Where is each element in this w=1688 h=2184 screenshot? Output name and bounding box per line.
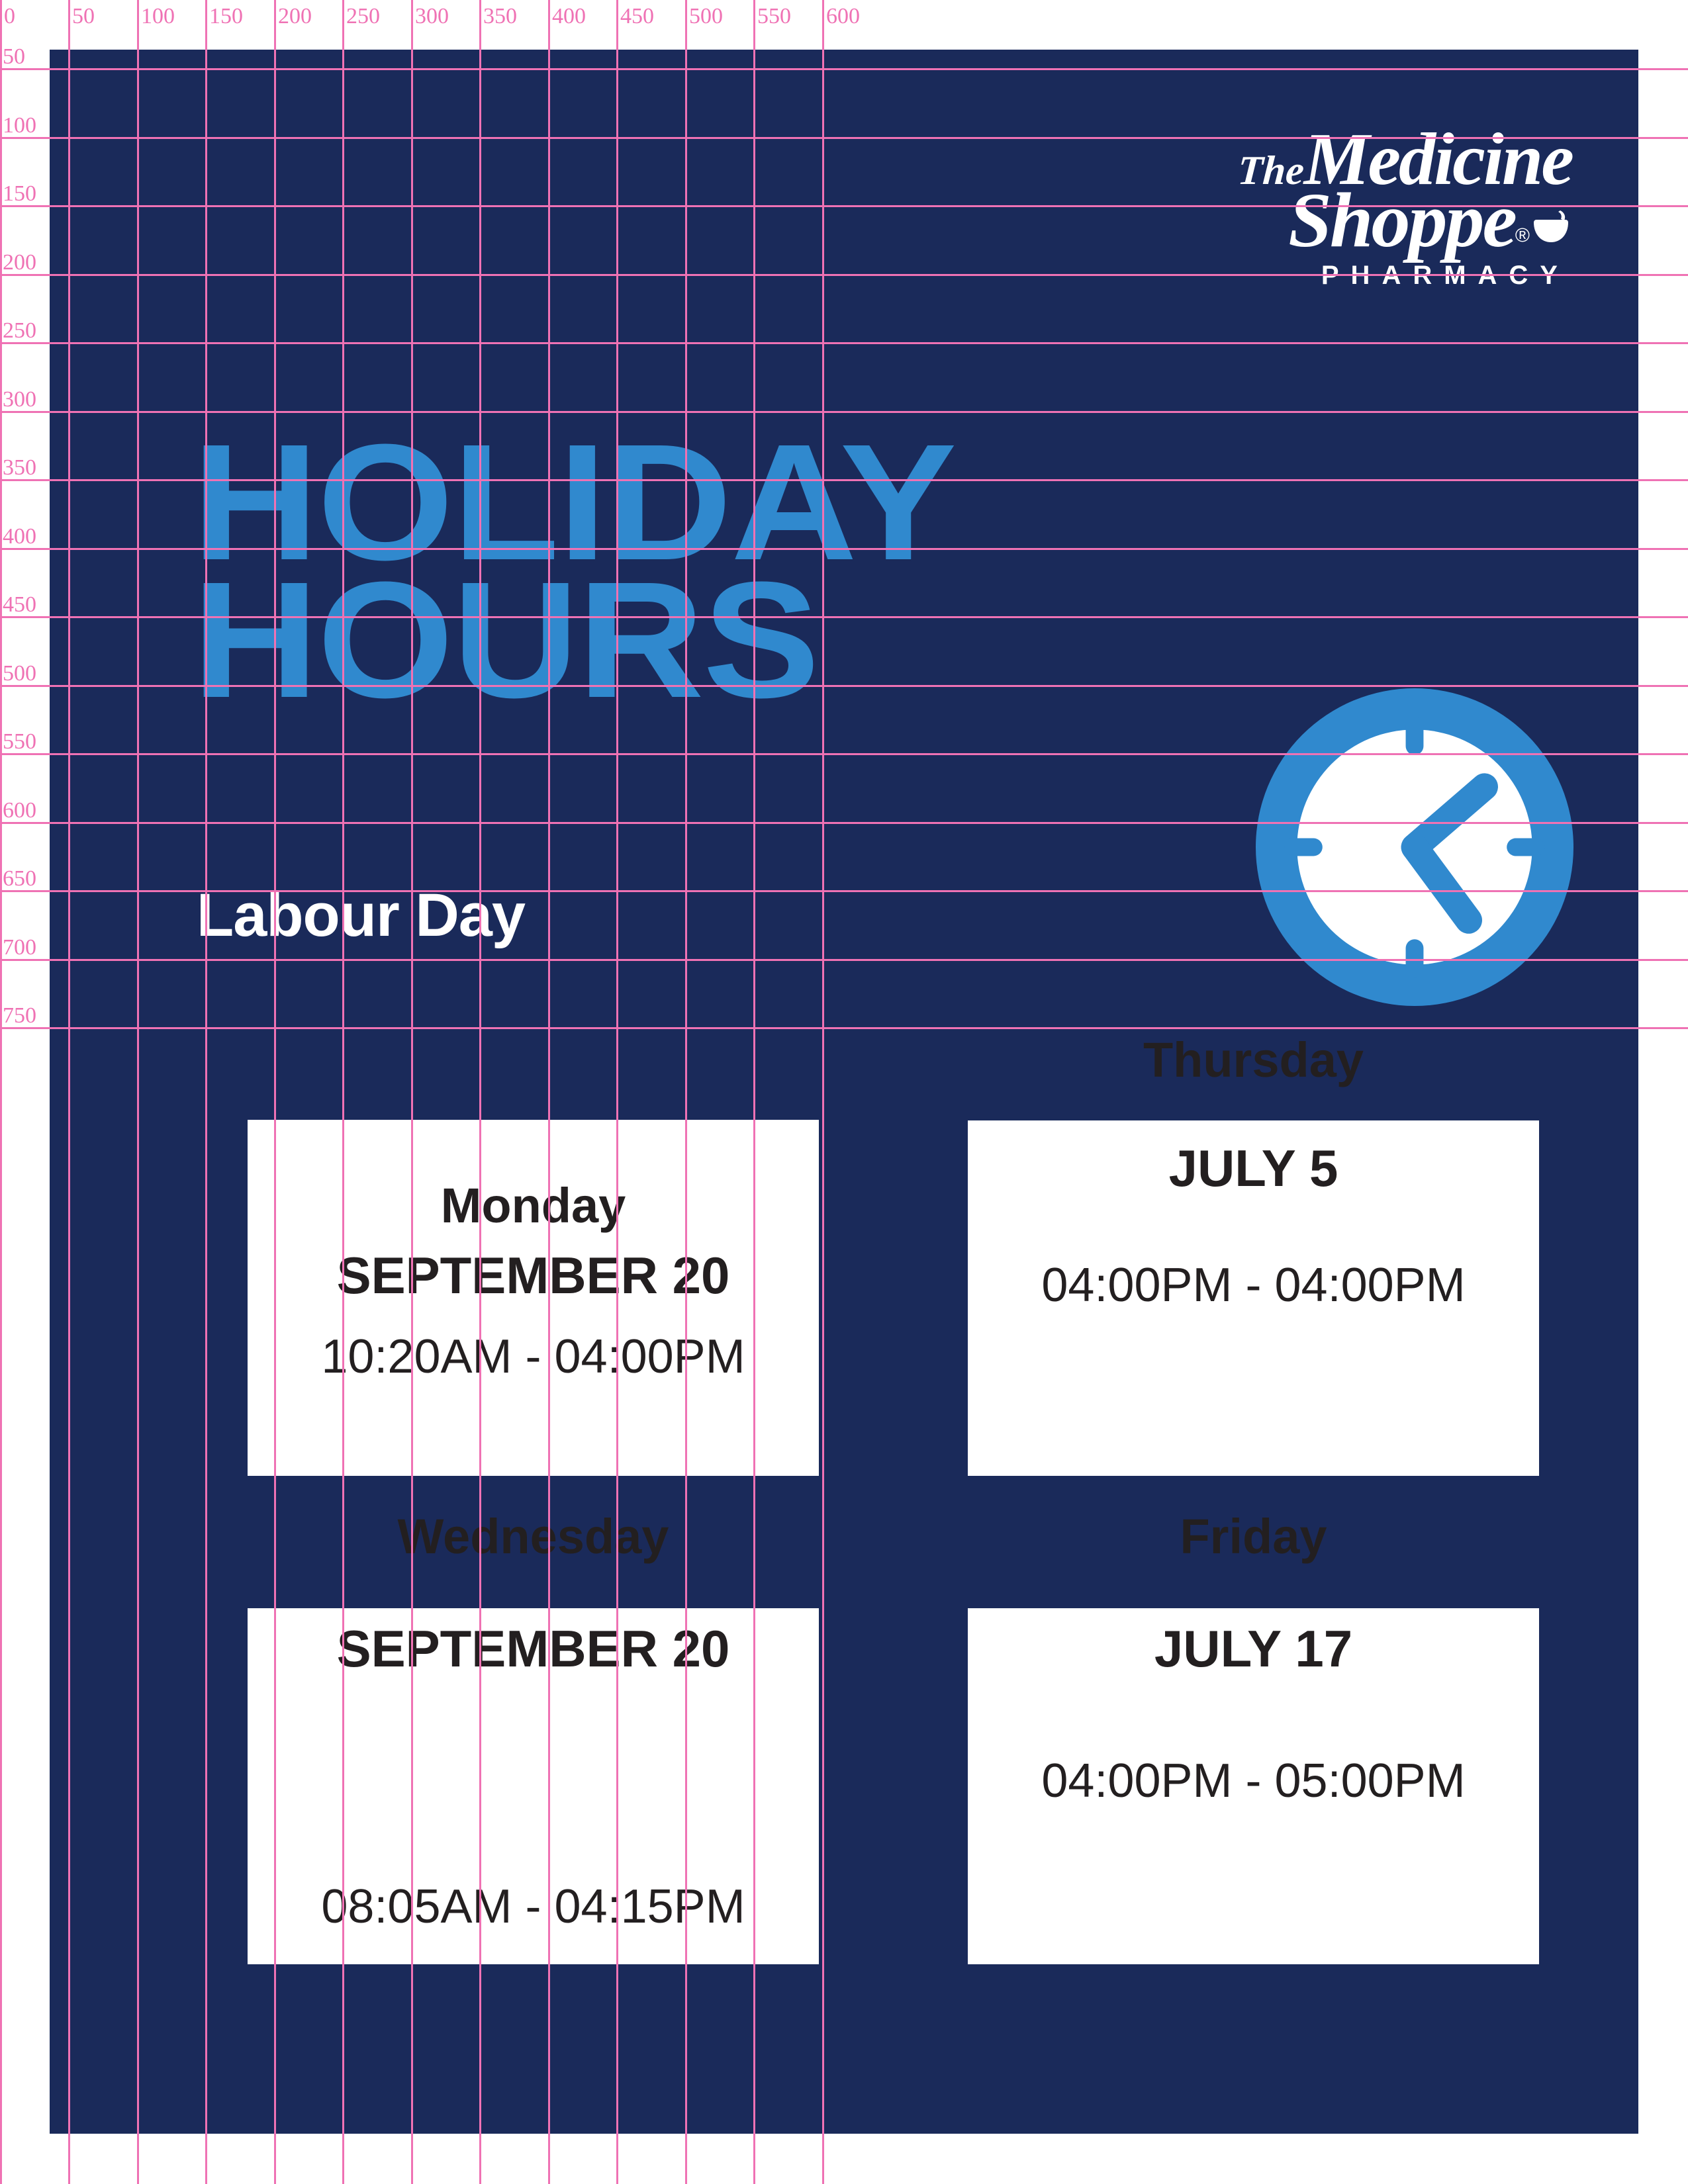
grid-label-y: 200 [3, 251, 36, 274]
grid-label-x: 0 [4, 5, 15, 28]
hours-card: Monday SEPTEMBER 20 10:20AM - 04:00PM [248, 1120, 819, 1476]
grid-label-y: 550 [3, 731, 36, 753]
card-date-label: JULY 5 [968, 1142, 1539, 1194]
grid-label-y: 500 [3, 662, 36, 685]
card-day-label: Wednesday [248, 1512, 819, 1561]
logo-shoppe-text: Shoppe [1288, 185, 1515, 257]
grid-label-y: 300 [3, 388, 36, 411]
grid-label-y: 600 [3, 799, 36, 822]
grid-label-y: 450 [3, 594, 36, 616]
clock-icon [1256, 688, 1573, 1006]
logo-pharmacy-text: PHARMACY [1149, 261, 1572, 291]
medicine-shoppe-logo: TheMedicine Shoppe® PHARMACY [1149, 126, 1572, 291]
title-line-hours: HOURS [192, 571, 1385, 709]
grid-label-y: 350 [3, 457, 36, 479]
grid-label-y: 150 [3, 183, 36, 205]
mortar-and-pestle-icon [1531, 209, 1572, 250]
card-date-label: JULY 17 [968, 1623, 1539, 1674]
card-date-label: SEPTEMBER 20 [248, 1623, 819, 1674]
grid-label-y: 400 [3, 525, 36, 548]
card-day-label: Thursday [968, 1036, 1539, 1085]
card-time-range: 08:05AM - 04:15PM [248, 1883, 819, 1931]
grid-label-x: 450 [620, 5, 654, 28]
poster-canvas: TheMedicine Shoppe® PHARMACY HOLIDAY HOU… [50, 50, 1638, 2134]
card-date-label: SEPTEMBER 20 [248, 1250, 819, 1301]
grid-label-x: 200 [278, 5, 312, 28]
card-day-label: Monday [248, 1181, 819, 1230]
grid-line-vertical [0, 0, 2, 2184]
grid-label-x: 300 [415, 5, 449, 28]
grid-label-x: 100 [141, 5, 175, 28]
holiday-name-subtitle: Labour Day [197, 885, 525, 946]
grid-label-y: 650 [3, 868, 36, 890]
grid-label-y: 100 [3, 114, 36, 137]
card-time-range: 10:20AM - 04:00PM [248, 1333, 819, 1381]
page-title: HOLIDAY HOURS [192, 433, 1317, 708]
card-time-range: 04:00PM - 04:00PM [968, 1261, 1539, 1309]
logo-the-text: The [1237, 150, 1305, 191]
grid-label-x: 500 [689, 5, 723, 28]
grid-label-x: 600 [826, 5, 860, 28]
grid-label-y: 250 [3, 320, 36, 342]
grid-label-y: 750 [3, 1005, 36, 1027]
logo-registered-mark: ® [1515, 225, 1530, 247]
hours-card: Wednesday SEPTEMBER 20 08:05AM - 04:15PM [248, 1608, 819, 1964]
card-time-range: 04:00PM - 05:00PM [968, 1757, 1539, 1805]
hours-card: Thursday JULY 5 04:00PM - 04:00PM [968, 1120, 1539, 1476]
hours-card: Friday JULY 17 04:00PM - 05:00PM [968, 1608, 1539, 1964]
grid-label-x: 150 [209, 5, 243, 28]
grid-label-x: 350 [483, 5, 517, 28]
card-day-label: Friday [968, 1512, 1539, 1561]
grid-label-x: 400 [552, 5, 586, 28]
grid-label-x: 250 [346, 5, 380, 28]
grid-label-x: 50 [72, 5, 95, 28]
grid-label-y: 50 [3, 46, 25, 68]
grid-label-y: 700 [3, 936, 36, 959]
grid-label-x: 550 [757, 5, 791, 28]
